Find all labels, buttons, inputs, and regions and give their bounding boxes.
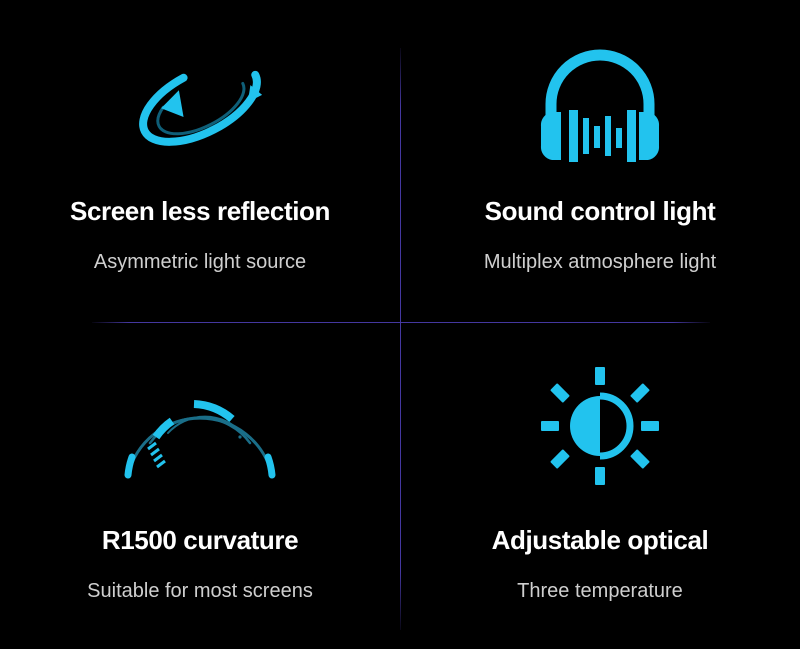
feature-title: Screen less reflection — [70, 198, 330, 224]
feature-card-screen-less-reflection[interactable]: Screen less reflection Asymmetric light … — [0, 0, 400, 325]
feature-subtitle: Suitable for most screens — [87, 581, 313, 601]
feature-subtitle: Asymmetric light source — [94, 252, 306, 272]
brightness-sun-icon — [541, 361, 659, 491]
feature-title: R1500 curvature — [102, 527, 298, 553]
headphones-soundwave-icon — [535, 38, 665, 168]
curved-arc-icon — [110, 361, 290, 491]
feature-subtitle: Three temperature — [517, 581, 683, 601]
feature-card-sound-control-light[interactable]: Sound control light Multiplex atmosphere… — [400, 0, 800, 325]
feature-card-r1500-curvature[interactable]: R1500 curvature Suitable for most screen… — [0, 325, 400, 649]
feature-title: Adjustable optical — [492, 527, 709, 553]
rotation-ellipse-icon — [125, 38, 275, 168]
feature-title: Sound control light — [485, 198, 716, 224]
feature-grid: Screen less reflection Asymmetric light … — [0, 0, 800, 649]
feature-subtitle: Multiplex atmosphere light — [484, 252, 716, 272]
feature-card-adjustable-optical[interactable]: Adjustable optical Three temperature — [400, 325, 800, 649]
